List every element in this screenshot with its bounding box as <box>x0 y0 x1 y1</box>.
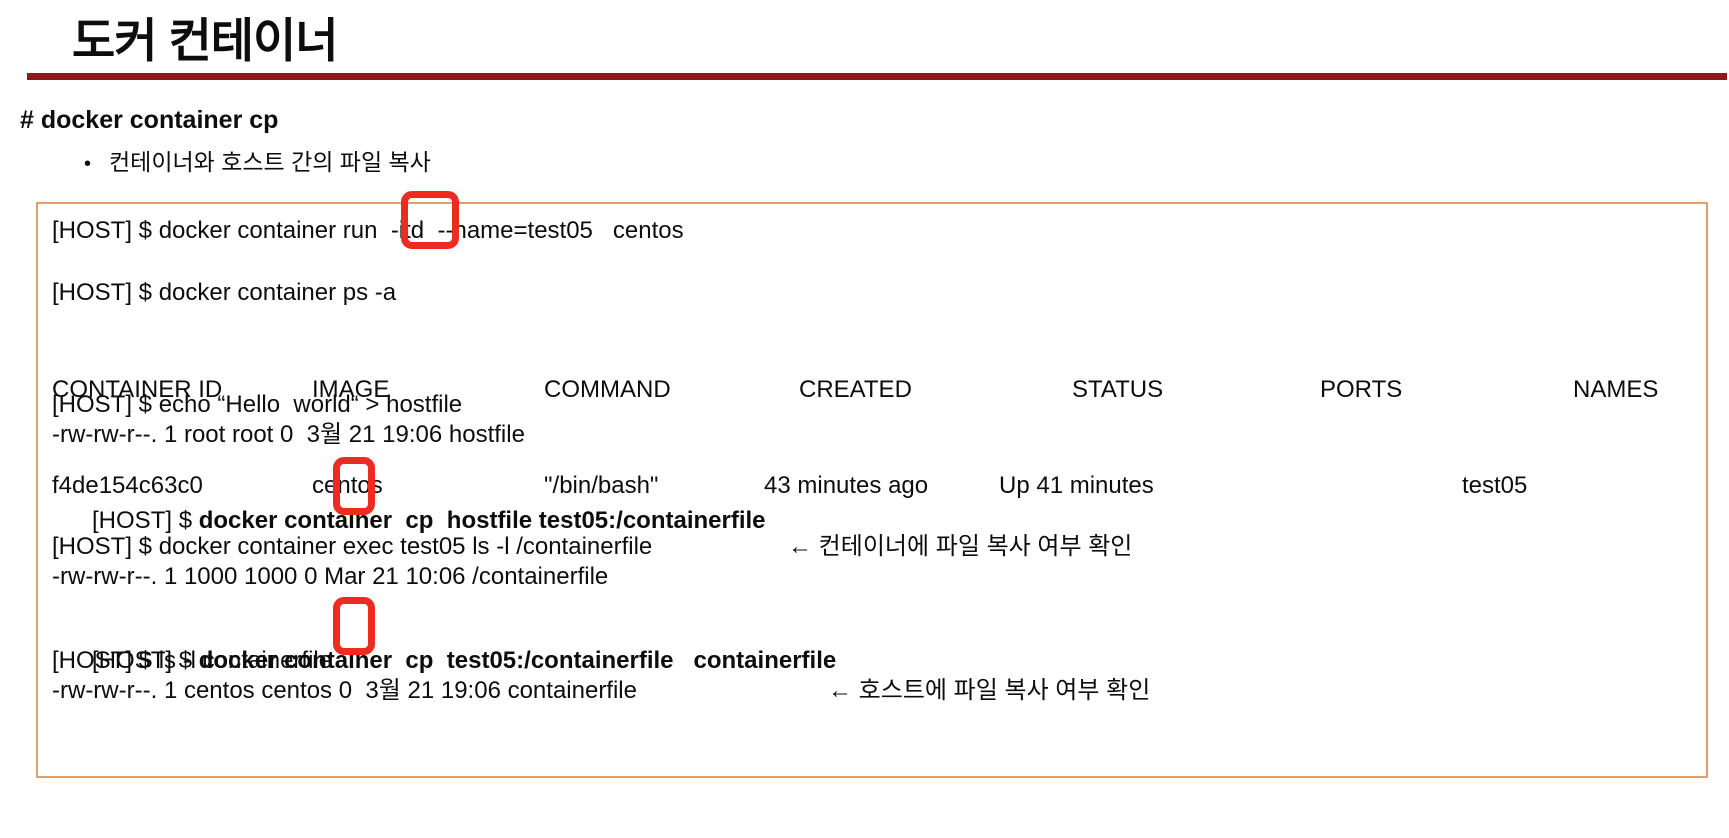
annotation-host-copy-check: ← 호스트에 파일 복사 여부 확인 <box>828 676 1150 706</box>
cell-names: test05 <box>1424 470 1662 502</box>
terminal-line-ls-local: [HOST] $ ls -l containerfile <box>52 646 332 676</box>
column-header-created: CREATED <box>754 374 1024 406</box>
title-underline-rule <box>27 73 1727 80</box>
terminal-line-run: [HOST] $ docker container run -itd --nam… <box>52 216 684 246</box>
terminal-line-ls-containerfile: -rw-rw-r--. 1 1000 1000 0 Mar 21 10:06 /… <box>52 562 608 592</box>
terminal-line-ls-local-output: -rw-rw-r--. 1 centos centos 0 3월 21 19:0… <box>52 676 637 706</box>
column-header-ports: PORTS <box>1282 374 1535 406</box>
shell-prompt: [HOST] $ <box>92 507 199 534</box>
bullet-dot-icon: • <box>84 154 91 174</box>
terminal-content: [HOST] $ docker container run -itd --nam… <box>38 204 1706 776</box>
cell-created: 43 minutes ago <box>754 470 989 502</box>
terminal-output-box: [HOST] $ docker container run -itd --nam… <box>36 202 1708 778</box>
column-header-status: STATUS <box>1024 374 1282 406</box>
cell-status: Up 41 minutes <box>989 470 1209 502</box>
terminal-line-exec: [HOST] $ docker container exec test05 ls… <box>52 532 652 562</box>
bullet-item: • 컨테이너와 호스트 간의 파일 복사 <box>84 143 431 177</box>
page-title: 도커 컨테이너 <box>72 2 338 71</box>
command-cp-to-container: docker container cp hostfile test05:/con… <box>199 507 766 534</box>
column-header-names: NAMES <box>1535 374 1729 406</box>
section-heading: # docker container cp <box>20 106 278 135</box>
cell-ports <box>1209 470 1424 502</box>
terminal-line-ps: [HOST] $ docker container ps -a <box>52 278 396 308</box>
annotation-container-copy-check: ← 컨테이너에 파일 복사 여부 확인 <box>788 532 1132 562</box>
bullet-item-label: 컨테이너와 호스트 간의 파일 복사 <box>109 143 431 177</box>
column-header-command: COMMAND <box>502 374 754 406</box>
terminal-line-ls-hostfile: -rw-rw-r--. 1 root root 0 3월 21 19:06 ho… <box>52 420 525 450</box>
terminal-line-echo: [HOST] $ echo “Hello world“ > hostfile <box>52 390 462 420</box>
